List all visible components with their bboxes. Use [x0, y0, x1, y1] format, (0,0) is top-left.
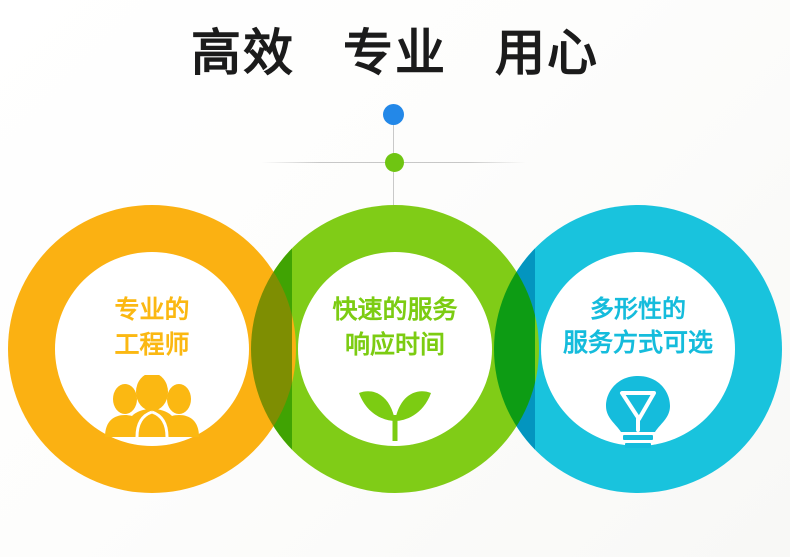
- infographic-canvas: 高效专业用心 专业的 工程师: [0, 0, 790, 557]
- blue-dot-icon: [383, 104, 404, 125]
- headline-segment-3: 用心: [495, 28, 599, 78]
- page-title: 高效专业用心: [0, 28, 790, 78]
- headline-segment-1: 高效: [191, 28, 295, 78]
- ring-engineers[interactable]: [8, 205, 296, 493]
- ring-hole-orange: [55, 252, 249, 446]
- ring-hole-blue: [541, 252, 735, 446]
- green-dot-icon: [385, 153, 404, 172]
- headline-segment-2: 专业: [343, 28, 447, 78]
- ring-hole-green: [298, 252, 492, 446]
- connector-line-lower: [393, 167, 394, 209]
